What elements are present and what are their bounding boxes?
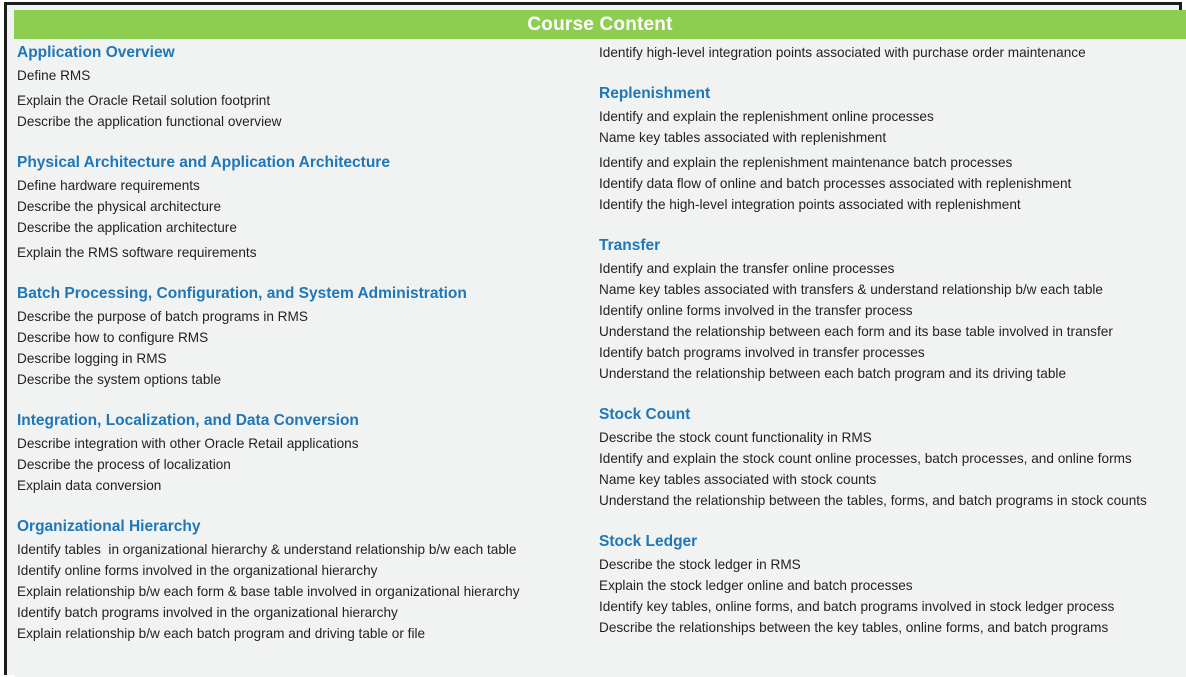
section-item: Explain relationship b/w each batch prog… (17, 623, 588, 644)
section-heading: Replenishment (599, 83, 1186, 104)
spacer (17, 496, 588, 516)
section-item: Identify data flow of online and batch p… (599, 173, 1186, 194)
course-content-banner: Course Content (14, 10, 1186, 39)
section-item: Describe the stock count functionality i… (599, 427, 1186, 448)
section-item: Explain relationship b/w each form & bas… (17, 581, 588, 602)
section-heading: Integration, Localization, and Data Conv… (17, 410, 588, 431)
section-item: Describe the application functional over… (17, 111, 588, 132)
section-item: Identify online forms involved in the or… (17, 560, 588, 581)
spacer (17, 132, 588, 152)
section-stock-ledger: Stock Ledger Describe the stock ledger i… (599, 531, 1186, 638)
section-physical-architecture: Physical Architecture and Application Ar… (17, 152, 588, 263)
section-item: Explain the Oracle Retail solution footp… (17, 90, 588, 111)
section-item: Define RMS (17, 65, 588, 86)
section-heading: Batch Processing, Configuration, and Sys… (17, 283, 588, 304)
section-item: Describe the system options table (17, 369, 588, 390)
section-heading: Physical Architecture and Application Ar… (17, 152, 588, 173)
content-area: Application Overview Define RMS Explain … (14, 39, 1186, 677)
section-integration-localization: Integration, Localization, and Data Conv… (17, 410, 588, 496)
section-item: Identify key tables, online forms, and b… (599, 596, 1186, 617)
section-application-overview: Application Overview Define RMS Explain … (17, 42, 588, 132)
section-heading: Transfer (599, 235, 1186, 256)
section-item: Identify online forms involved in the tr… (599, 300, 1186, 321)
section-item: Describe integration with other Oracle R… (17, 433, 588, 454)
section-item: Describe the process of localization (17, 454, 588, 475)
spacer (17, 263, 588, 283)
section-item: Name key tables associated with replenis… (599, 127, 1186, 148)
section-heading: Organizational Hierarchy (17, 516, 588, 537)
section-item: Describe the application architecture (17, 217, 588, 238)
section-item: Describe the relationships between the k… (599, 617, 1186, 638)
section-organizational-hierarchy: Organizational Hierarchy Identify tables… (17, 516, 588, 644)
section-item: Identify tables in organizational hierar… (17, 539, 588, 560)
right-column: Identify high-level integration points a… (592, 39, 1186, 677)
section-item: Describe the physical architecture (17, 196, 588, 217)
section-item: Understand the relationship between each… (599, 363, 1186, 384)
section-item: Name key tables associated with transfer… (599, 279, 1186, 300)
section-item: Describe the stock ledger in RMS (599, 554, 1186, 575)
spacer (599, 511, 1186, 531)
section-item: Understand the relationship between the … (599, 490, 1186, 511)
section-transfer: Transfer Identify and explain the transf… (599, 235, 1186, 384)
section-item: Explain data conversion (17, 475, 588, 496)
section-batch-processing: Batch Processing, Configuration, and Sys… (17, 283, 588, 390)
section-item: Identify and explain the transfer online… (599, 258, 1186, 279)
section-item: Define hardware requirements (17, 175, 588, 196)
slide-frame: Course Content Application Overview Defi… (4, 2, 1182, 675)
section-item: Identify and explain the stock count onl… (599, 448, 1186, 469)
section-item: Explain the RMS software requirements (17, 242, 588, 263)
section-heading: Stock Count (599, 404, 1186, 425)
section-replenishment: Replenishment Identify and explain the r… (599, 83, 1186, 215)
section-item: Identify batch programs involved in tran… (599, 342, 1186, 363)
section-stock-count: Stock Count Describe the stock count fun… (599, 404, 1186, 511)
section-item: Identify batch programs involved in the … (17, 602, 588, 623)
lead-item: Identify high-level integration points a… (599, 42, 1186, 63)
section-heading: Application Overview (17, 42, 588, 63)
spacer (599, 384, 1186, 404)
left-column: Application Overview Define RMS Explain … (14, 39, 592, 677)
spacer (17, 390, 588, 410)
section-item: Identify and explain the replenishment m… (599, 152, 1186, 173)
section-item: Understand the relationship between each… (599, 321, 1186, 342)
section-item: Name key tables associated with stock co… (599, 469, 1186, 490)
section-heading: Stock Ledger (599, 531, 1186, 552)
spacer (599, 63, 1186, 83)
section-item: Describe the purpose of batch programs i… (17, 306, 588, 327)
section-item: Identify the high-level integration poin… (599, 194, 1186, 215)
section-item: Explain the stock ledger online and batc… (599, 575, 1186, 596)
section-item: Identify and explain the replenishment o… (599, 106, 1186, 127)
banner-title: Course Content (527, 15, 672, 34)
section-item: Describe logging in RMS (17, 348, 588, 369)
spacer (599, 215, 1186, 235)
section-item: Describe how to configure RMS (17, 327, 588, 348)
course-content-slide: Course Content Application Overview Defi… (0, 0, 1186, 677)
